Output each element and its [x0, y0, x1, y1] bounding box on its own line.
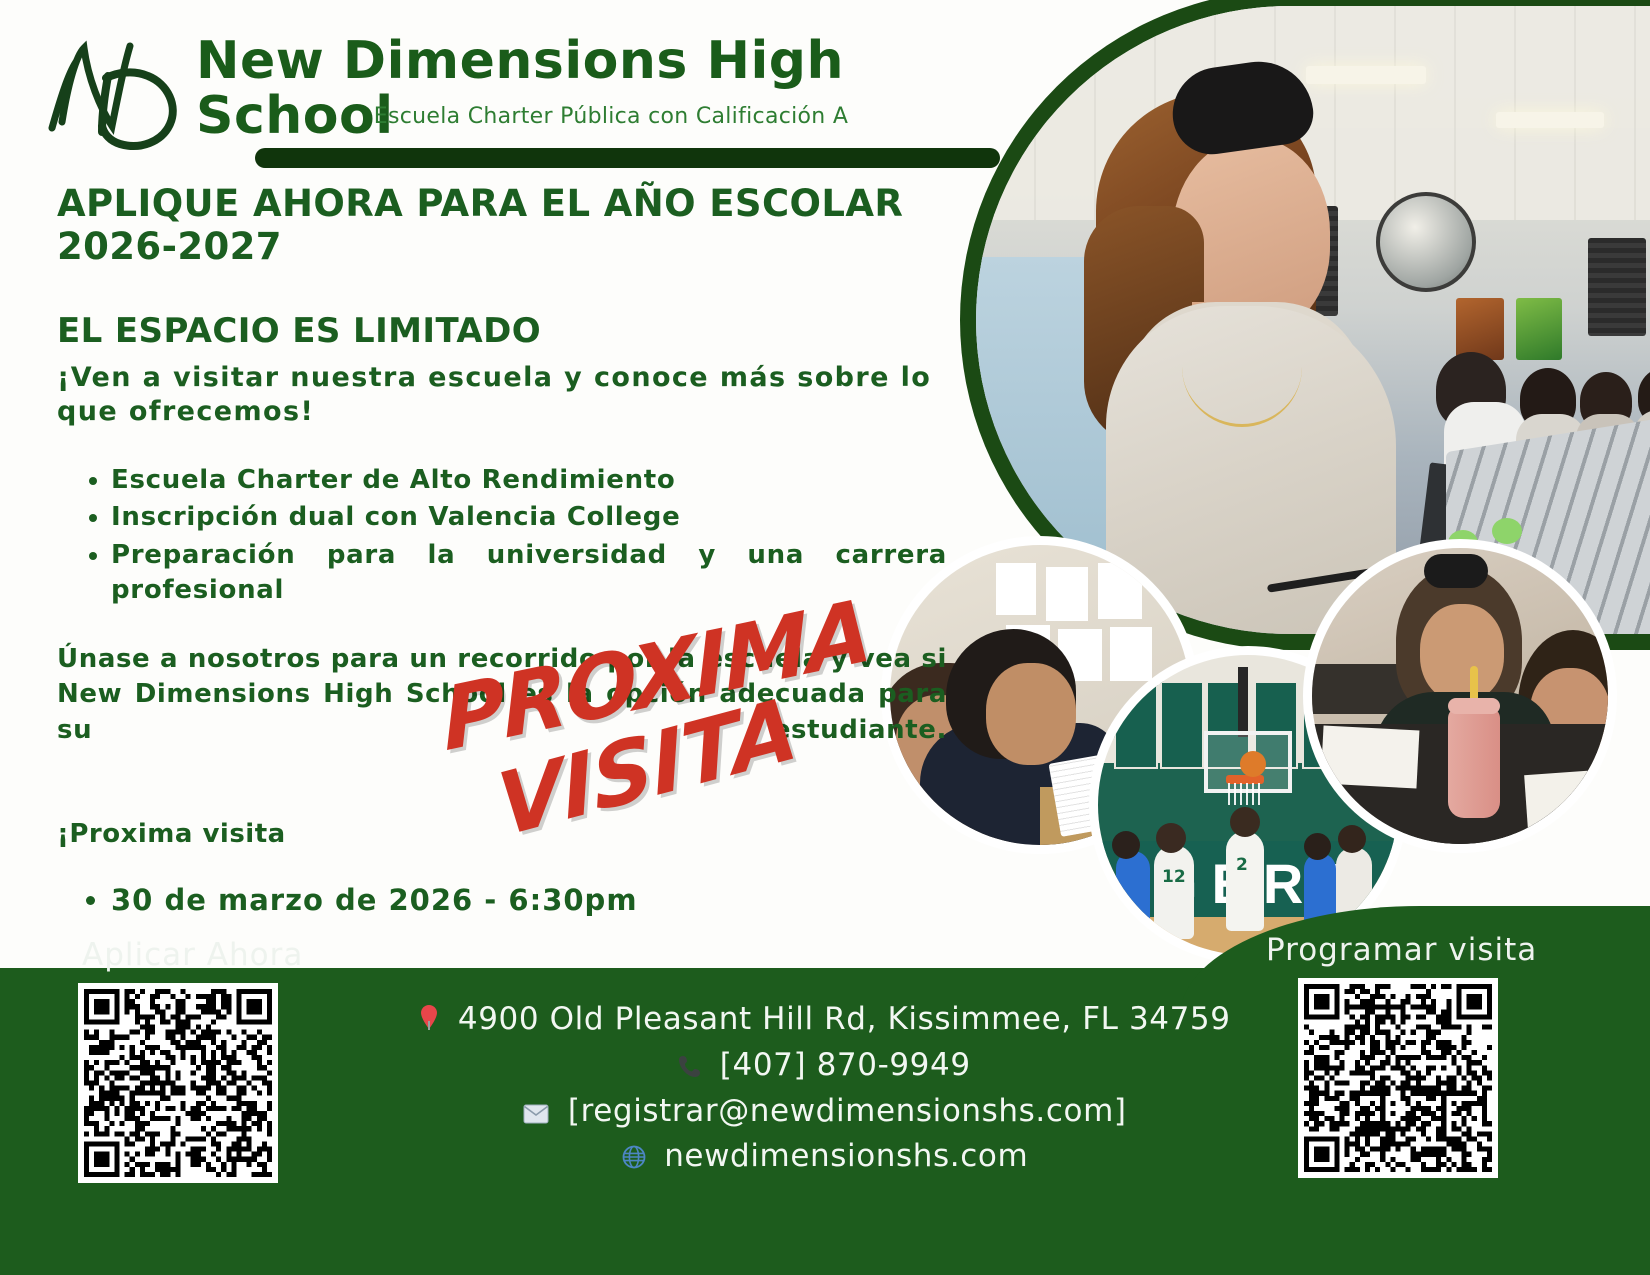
contact-email-row: [registrar@newdimensionshs.com]: [0, 1090, 1650, 1136]
contact-email[interactable]: [registrar@newdimensionshs.com]: [568, 1093, 1127, 1129]
flyer-page: GERS 12 2: [0, 0, 1650, 1275]
contact-phone-row: [407] 870-9949: [0, 1044, 1650, 1090]
apply-heading: APLIQUE AHORA PARA EL AÑO ESCOLAR 2026-2…: [57, 182, 947, 269]
list-item: 30 de marzo de 2026 - 6:30pm: [111, 883, 947, 917]
next-visit-label: ¡Proxima visita: [57, 819, 947, 849]
list-item: Escuela Charter de Alto Rendimiento: [111, 463, 947, 498]
school-tagline: Escuela Charter Pública con Calificación…: [196, 104, 1026, 129]
contact-address: 4900 Old Pleasant Hill Rd, Kissimmee, FL…: [458, 1001, 1231, 1037]
qr-right-label: Programar visita: [1266, 932, 1537, 968]
limited-space-heading: EL ESPACIO ES LIMITADO: [57, 311, 947, 351]
visit-dates-list: 30 de marzo de 2026 - 6:30pm: [57, 883, 947, 917]
contact-website-row: newdimensionshs.com: [0, 1135, 1650, 1181]
main-copy: APLIQUE AHORA PARA EL AÑO ESCOLAR 2026-2…: [57, 182, 947, 917]
list-item: Preparación para la universidad y una ca…: [111, 538, 947, 608]
location-pin-icon: [419, 1001, 439, 1044]
contact-block: 4900 Old Pleasant Hill Rd, Kissimmee, FL…: [0, 998, 1650, 1181]
school-logo-nd: [44, 26, 204, 156]
tour-paragraph: Únase a nosotros para un recorrido por l…: [57, 642, 947, 783]
features-list: Escuela Charter de Alto Rendimiento Insc…: [57, 463, 947, 608]
photo-girls-studying: [1312, 548, 1608, 844]
list-item: Inscripción dual con Valencia College: [111, 500, 947, 535]
qr-left-label: Aplicar Ahora: [82, 937, 303, 973]
photo-collage: GERS 12 2: [880, 0, 1650, 975]
hero-photo-band-student: [976, 6, 1650, 634]
contact-address-row: 4900 Old Pleasant Hill Rd, Kissimmee, FL…: [0, 998, 1650, 1044]
envelope-icon: [523, 1093, 549, 1136]
contact-website[interactable]: newdimensionshs.com: [664, 1138, 1028, 1174]
telephone-icon: [679, 1047, 701, 1090]
contact-phone: [407] 870-9949: [720, 1047, 971, 1083]
globe-icon: [622, 1138, 646, 1181]
visit-subheading: ¡Ven a visitar nuestra escuela y conoce …: [57, 361, 947, 429]
footer-band: Aplicar Ahora Programar visita 4900 Old …: [0, 968, 1650, 1275]
header-divider-bar: [255, 148, 1000, 168]
